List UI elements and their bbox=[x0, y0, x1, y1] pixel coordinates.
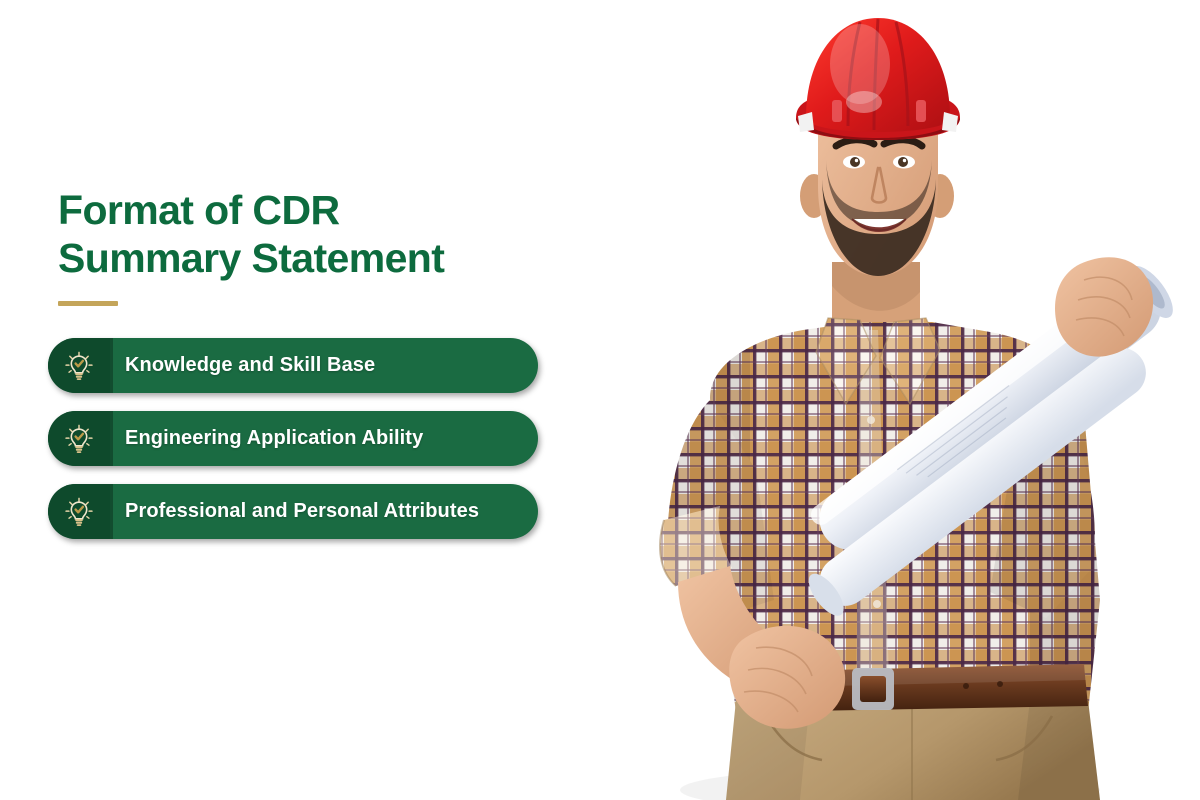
list-item-label: Engineering Application Ability bbox=[110, 427, 538, 450]
list-item-label: Knowledge and Skill Base bbox=[110, 354, 538, 377]
cdr-summary-banner: Format of CDR Summary Statement bbox=[0, 0, 1200, 800]
page-title: Format of CDR Summary Statement bbox=[58, 186, 578, 283]
cdr-criteria-list: Knowledge and Skill Base bbox=[48, 338, 538, 539]
lightbulb-check-icon bbox=[48, 411, 110, 466]
headline-block: Format of CDR Summary Statement bbox=[58, 186, 578, 306]
list-item-engineering-application-ability[interactable]: Engineering Application Ability bbox=[48, 411, 538, 466]
list-item-professional-and-personal-attributes[interactable]: Professional and Personal Attributes bbox=[48, 484, 538, 539]
accent-rule-divider bbox=[58, 301, 118, 306]
engineer-photo bbox=[560, 0, 1200, 800]
list-item-knowledge-and-skill-base[interactable]: Knowledge and Skill Base bbox=[48, 338, 538, 393]
lightbulb-check-icon bbox=[48, 484, 110, 539]
list-item-label: Professional and Personal Attributes bbox=[110, 500, 538, 523]
lightbulb-check-icon bbox=[48, 338, 110, 393]
